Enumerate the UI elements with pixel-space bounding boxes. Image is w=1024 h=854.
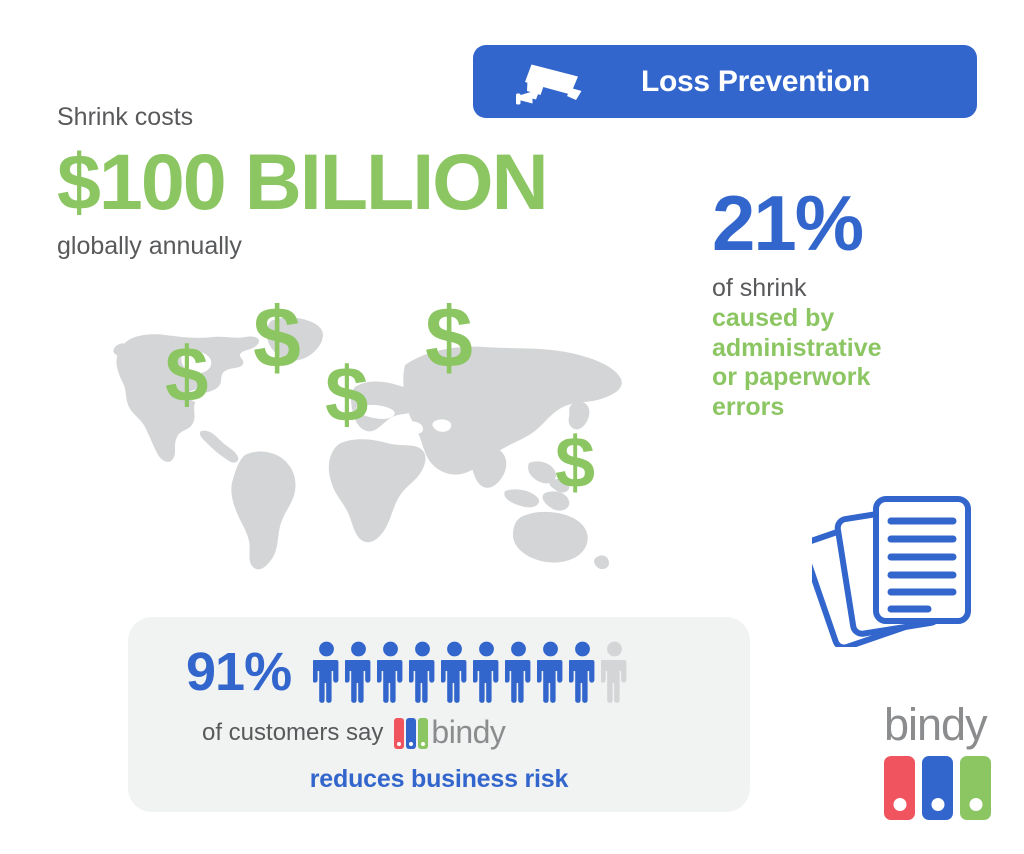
customer-testimonial-panel: 91% of customers say bindy reduces busi <box>128 617 750 812</box>
stacked-documents-icon <box>812 487 984 647</box>
headline-subtext: globally annually <box>57 233 677 261</box>
person-icon <box>505 641 532 703</box>
dollar-marker: $ <box>425 295 473 381</box>
binder-bar-green <box>960 756 991 820</box>
person-icon <box>377 641 404 703</box>
shrink-headline-block: Shrink costs $100 BILLION globally annua… <box>57 104 677 260</box>
bindy-wordmark: bindy <box>431 716 505 748</box>
binder-bar-red <box>884 756 915 820</box>
shrink-cause-line: caused by <box>712 304 982 334</box>
headline-kicker: Shrink costs <box>57 104 677 132</box>
shrink-cause-line: or paperwork <box>712 363 982 393</box>
person-icon <box>313 641 340 703</box>
customer-quote-row: of customers say bindy <box>202 717 505 749</box>
binder-bar-green <box>418 718 428 749</box>
dollar-marker: $ <box>165 335 208 413</box>
bindy-brand-logo: bindy <box>884 702 1000 824</box>
people-pictogram <box>313 641 628 703</box>
customer-stat-row: 91% <box>186 641 628 703</box>
security-camera-icon <box>515 58 589 106</box>
binder-bar-blue <box>922 756 953 820</box>
person-icon-empty <box>601 641 628 703</box>
shrink-cause-description: caused by administrative or paperwork er… <box>712 304 982 422</box>
world-map: $ $ $ $ $ <box>105 295 625 595</box>
shrink-cause-percent: 21% <box>712 186 982 260</box>
bindy-inline-logo: bindy <box>394 717 505 749</box>
binder-bar-red <box>394 718 404 749</box>
dollar-marker: $ <box>555 427 595 499</box>
shrink-cause-line: administrative <box>712 334 982 364</box>
binder-bars-icon <box>884 756 1000 820</box>
person-icon <box>345 641 372 703</box>
shrink-cause-line: errors <box>712 393 982 423</box>
binder-bars-icon <box>394 718 428 749</box>
person-icon <box>537 641 564 703</box>
customer-quote-prefix: of customers say <box>202 721 383 745</box>
person-icon <box>473 641 500 703</box>
shrink-cause-stat: 21% of shrink caused by administrative o… <box>712 186 982 422</box>
dollar-marker: $ <box>253 295 301 381</box>
shrink-cause-label: of shrink <box>712 274 982 302</box>
dollar-marker: $ <box>325 355 368 433</box>
customer-percent: 91% <box>186 645 291 699</box>
headline-amount: $100 BILLION <box>57 142 677 221</box>
person-icon <box>569 641 596 703</box>
banner-title: Loss Prevention <box>641 65 870 99</box>
person-icon <box>441 641 468 703</box>
binder-bar-blue <box>406 718 416 749</box>
customer-claim: reduces business risk <box>128 765 750 794</box>
bindy-logo-wordmark: bindy <box>884 702 1000 747</box>
person-icon <box>409 641 436 703</box>
